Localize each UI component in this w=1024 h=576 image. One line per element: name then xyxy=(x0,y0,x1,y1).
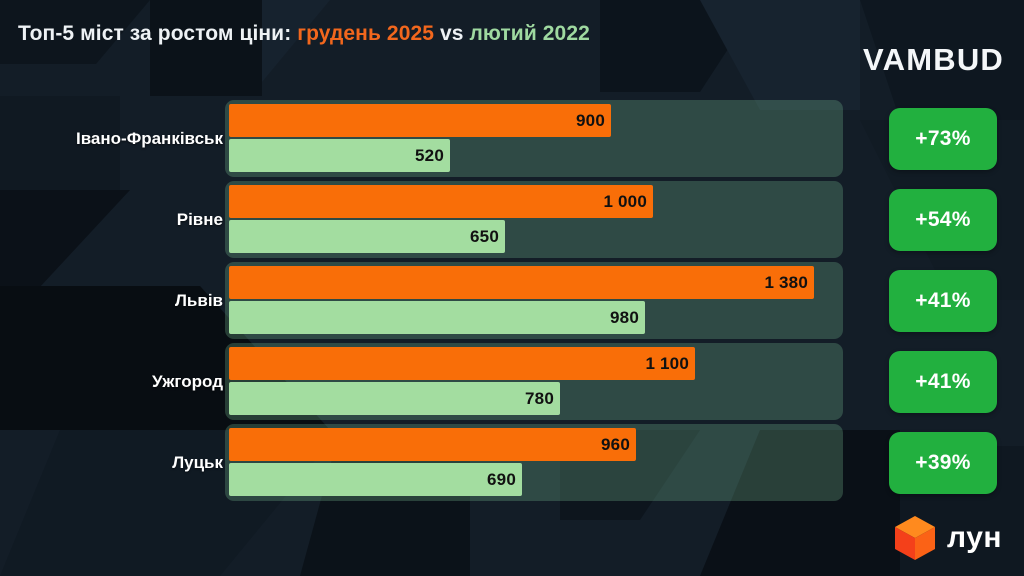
row-panel: 1 100 780 xyxy=(225,343,843,420)
chart-title: Топ-5 міст за ростом ціни: грудень 2025 … xyxy=(18,22,590,46)
bar-base-2022: 520 xyxy=(229,139,450,172)
chart-row: Івано-Франківськ 900 520 xyxy=(0,98,1024,179)
status-badge: +41% xyxy=(889,270,997,332)
city-label: Львів xyxy=(175,260,223,341)
city-label: Івано-Франківськ xyxy=(76,98,223,179)
status-badge: +73% xyxy=(889,108,997,170)
infographic-canvas: Топ-5 міст за ростом ціни: грудень 2025 … xyxy=(0,0,1024,576)
title-current-period: грудень 2025 xyxy=(297,22,434,45)
bar-value-label: 1 380 xyxy=(764,273,814,293)
status-badge: +54% xyxy=(889,189,997,251)
badge-slot: +54% xyxy=(888,179,998,260)
bar-value-label: 520 xyxy=(415,146,450,166)
chart-row: Львів 1 380 980 xyxy=(0,260,1024,341)
bar-value-label: 650 xyxy=(470,227,505,247)
title-prefix: Топ-5 міст за ростом ціни: xyxy=(18,22,297,45)
bar-track: 900 520 xyxy=(229,104,839,173)
lun-logo: лун xyxy=(892,514,1002,562)
bar-current-2025: 1 380 xyxy=(229,266,814,299)
lun-wordmark: лун xyxy=(947,523,1002,553)
status-badge: +39% xyxy=(889,432,997,494)
status-badge: +41% xyxy=(889,351,997,413)
bar-value-label: 690 xyxy=(487,470,522,490)
bar-track: 1 100 780 xyxy=(229,347,839,416)
bar-value-label: 1 100 xyxy=(645,354,695,374)
badge-slot: +73% xyxy=(888,98,998,179)
bar-chart-rows: Івано-Франківськ 900 520 Рівне 1 000 xyxy=(0,98,1024,503)
bar-base-2022: 980 xyxy=(229,301,645,334)
bar-current-2025: 1 100 xyxy=(229,347,695,380)
chart-row: Ужгород 1 100 780 xyxy=(0,341,1024,422)
bar-value-label: 960 xyxy=(601,435,636,455)
row-panel: 900 520 xyxy=(225,100,843,177)
bar-value-label: 1 000 xyxy=(603,192,653,212)
row-panel: 1 380 980 xyxy=(225,262,843,339)
bar-value-label: 900 xyxy=(576,111,611,131)
row-panel: 1 000 650 xyxy=(225,181,843,258)
bar-base-2022: 780 xyxy=(229,382,560,415)
chart-row: Луцьк 960 690 xyxy=(0,422,1024,503)
brand-wordmark: VAMBUD xyxy=(863,42,1004,78)
bar-value-label: 980 xyxy=(610,308,645,328)
title-base-period: лютий 2022 xyxy=(469,22,589,45)
bar-track: 1 000 650 xyxy=(229,185,839,254)
chart-row: Рівне 1 000 650 xyxy=(0,179,1024,260)
bar-current-2025: 960 xyxy=(229,428,636,461)
title-vs: vs xyxy=(434,22,469,45)
bar-current-2025: 1 000 xyxy=(229,185,653,218)
bar-current-2025: 900 xyxy=(229,104,611,137)
bar-value-label: 780 xyxy=(525,389,560,409)
growth-badge-column: +73% +54% +41% +41% +39% xyxy=(888,98,998,503)
city-label: Луцьк xyxy=(172,422,223,503)
bar-base-2022: 650 xyxy=(229,220,505,253)
badge-slot: +41% xyxy=(888,260,998,341)
city-label: Рівне xyxy=(177,179,223,260)
row-panel: 960 690 xyxy=(225,424,843,501)
badge-slot: +41% xyxy=(888,341,998,422)
badge-slot: +39% xyxy=(888,422,998,503)
bar-track: 960 690 xyxy=(229,428,839,497)
city-label: Ужгород xyxy=(152,341,223,422)
cube-icon xyxy=(892,514,938,562)
bar-track: 1 380 980 xyxy=(229,266,839,335)
bar-base-2022: 690 xyxy=(229,463,522,496)
